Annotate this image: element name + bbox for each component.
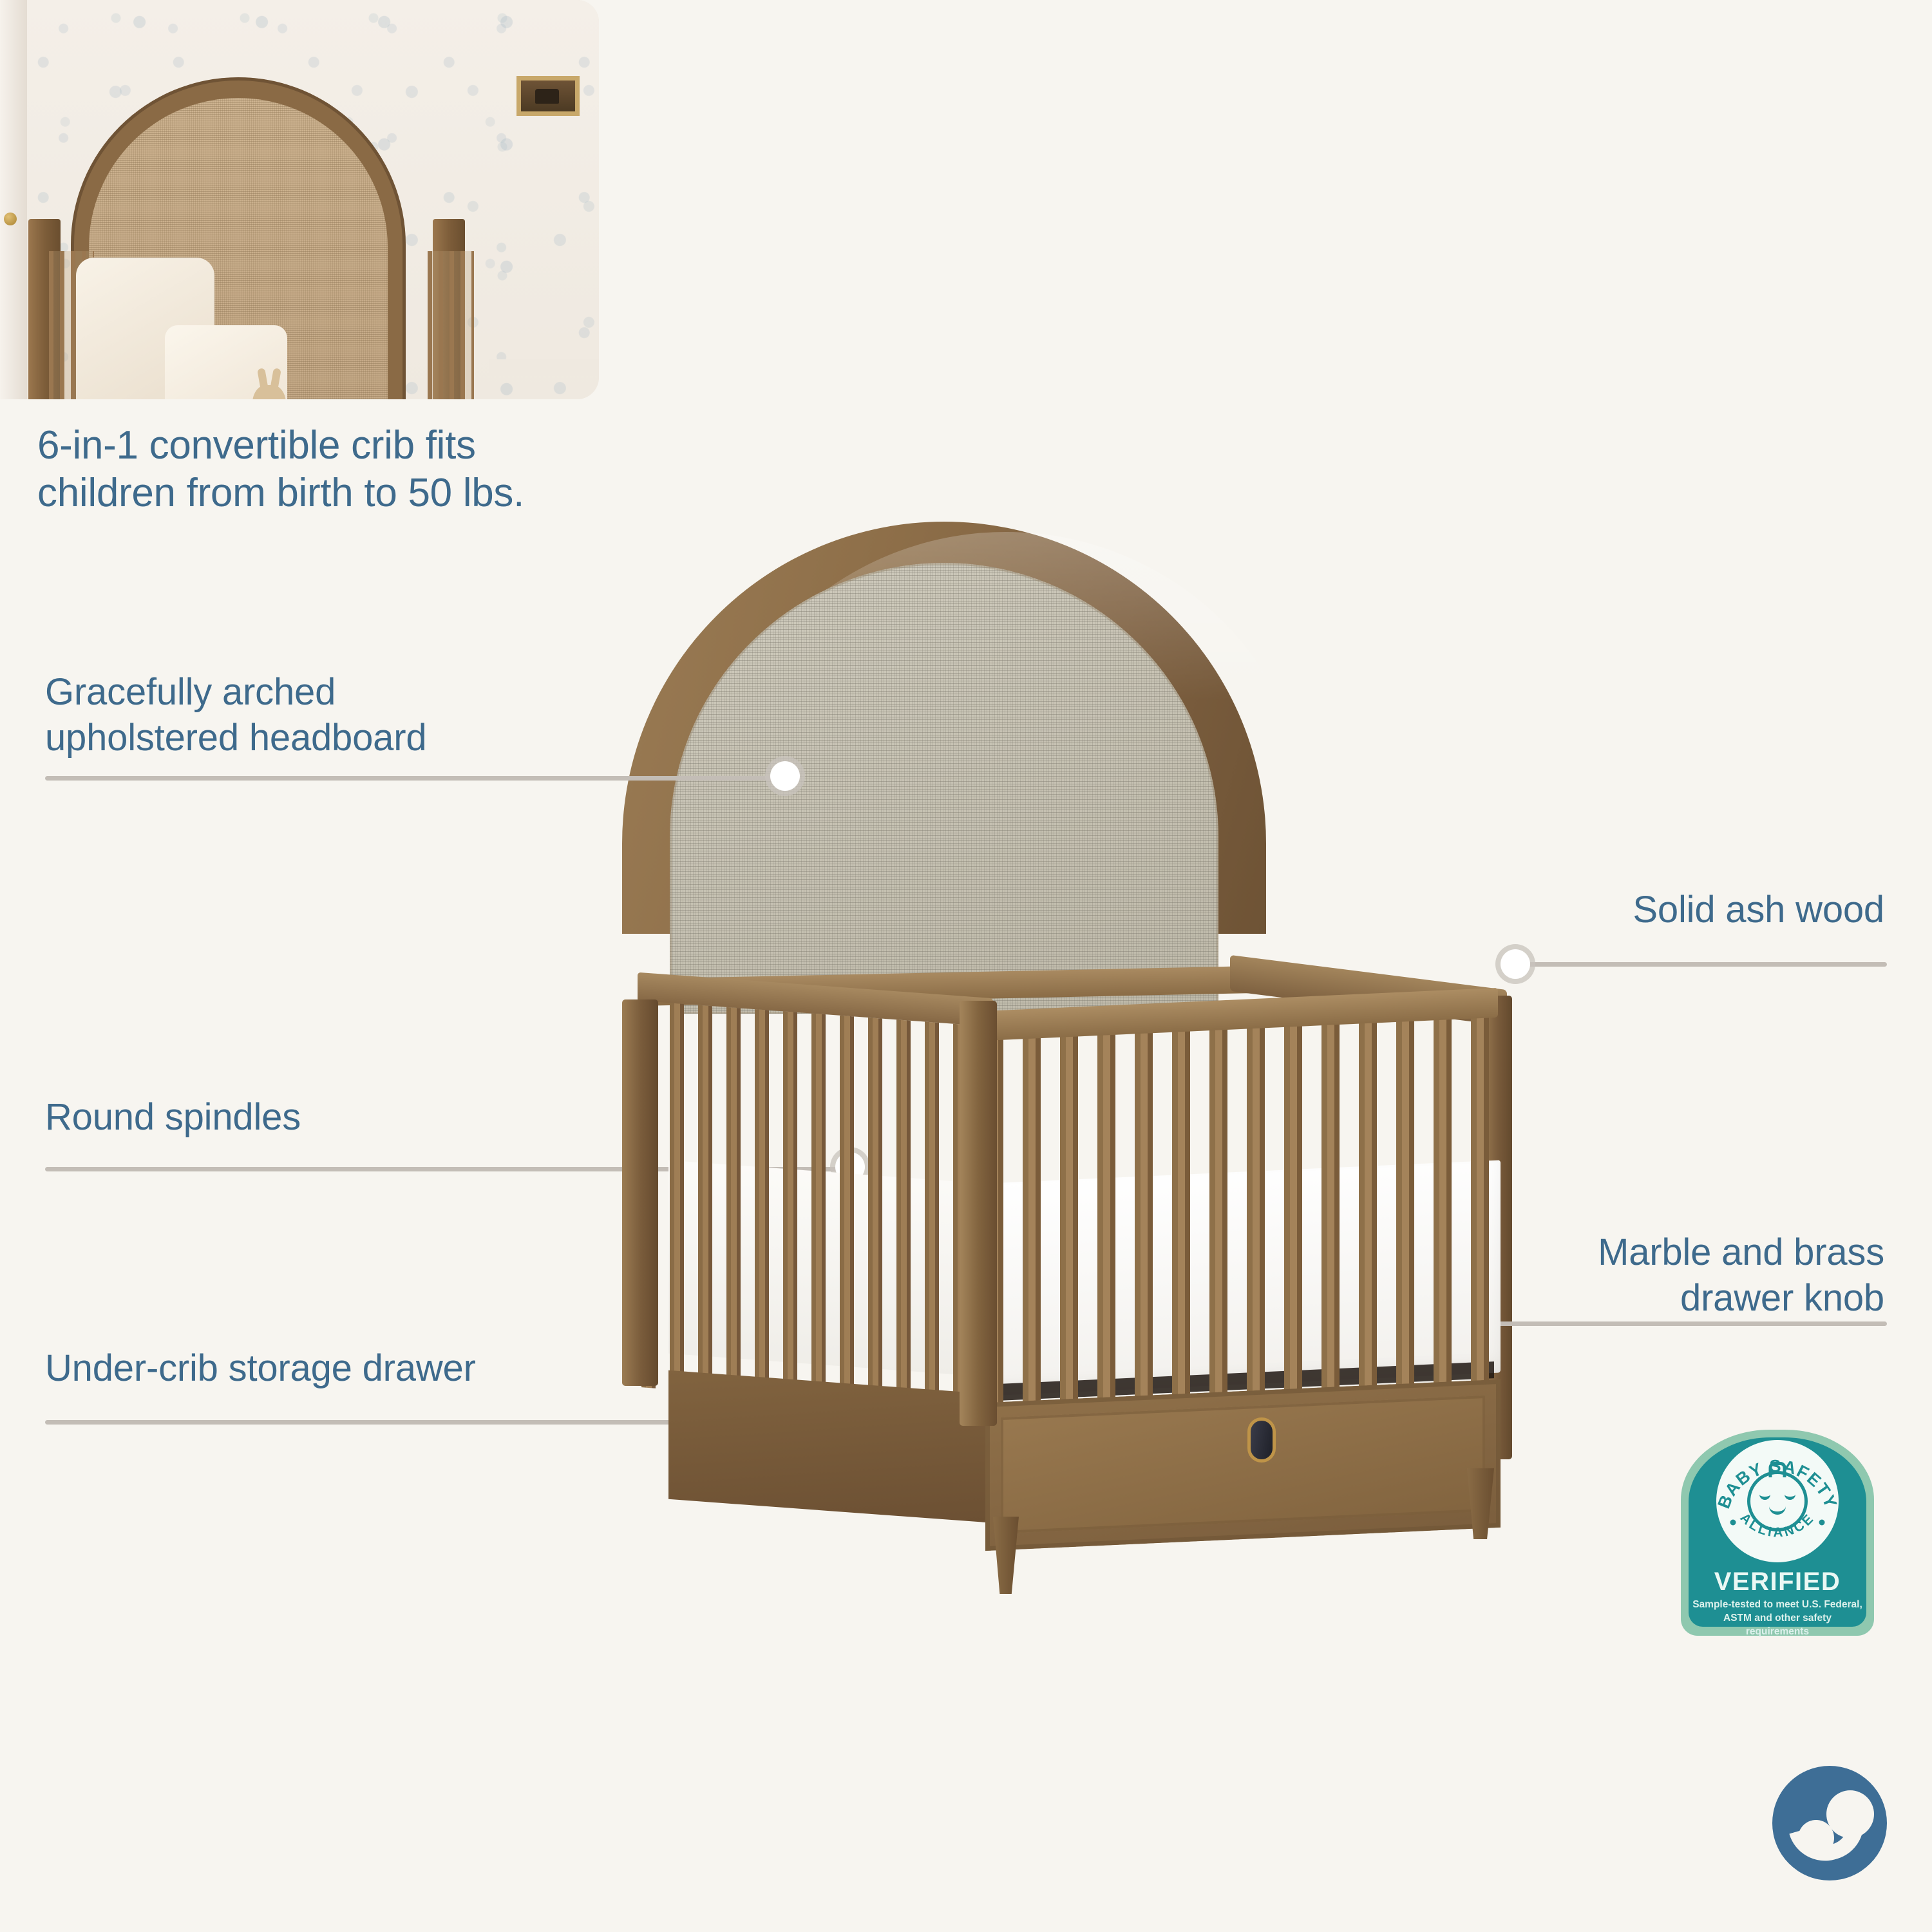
nursery-daybed-thumbnail bbox=[0, 0, 599, 399]
infographic-canvas: 6-in-1 convertible crib fits children fr… bbox=[0, 0, 1932, 1932]
badge-verified-label: VERIFIED bbox=[1681, 1567, 1874, 1596]
floor-baseboard bbox=[489, 359, 599, 376]
callout-label-wood: Solid ash wood bbox=[1176, 887, 1884, 933]
corner-post-back-left bbox=[622, 999, 658, 1386]
framed-picture bbox=[516, 76, 580, 116]
callout-dot-wood[interactable] bbox=[1501, 949, 1530, 979]
door-knob-icon bbox=[4, 213, 17, 225]
storage-drawer-front bbox=[985, 1379, 1501, 1551]
drawer-inset-panel bbox=[1001, 1396, 1485, 1533]
spindles-left-panel bbox=[641, 1001, 989, 1413]
callout-label-headboard: Gracefully arched upholstered headboard bbox=[45, 670, 689, 761]
crib-leg-left bbox=[993, 1517, 1019, 1594]
baby-face-icon bbox=[1747, 1471, 1808, 1531]
leader-line-headboard bbox=[45, 776, 792, 781]
daybed-spindles-right bbox=[428, 251, 474, 399]
badge-subtext: Sample-tested to meet U.S. Federal, ASTM… bbox=[1691, 1598, 1864, 1639]
logo-child-head bbox=[1798, 1820, 1834, 1856]
mother-and-child-logo-icon bbox=[1772, 1766, 1887, 1880]
marble-brass-knob bbox=[1251, 1421, 1273, 1459]
baby-eye-left-icon bbox=[1759, 1491, 1770, 1500]
callout-dot-headboard[interactable] bbox=[770, 761, 800, 791]
headline-text: 6-in-1 convertible crib fits children fr… bbox=[37, 422, 617, 518]
leader-line-wood bbox=[1526, 962, 1887, 967]
door-frame bbox=[0, 0, 27, 399]
baby-eye-right-icon bbox=[1785, 1491, 1795, 1500]
crib-product-illustration bbox=[560, 522, 1591, 1520]
corner-post-front-left bbox=[960, 1001, 997, 1426]
baby-safety-alliance-badge: BABY SAFETY ALLIANCE VERIFIED Sample-tes… bbox=[1681, 1430, 1874, 1636]
baby-smile-icon bbox=[1769, 1502, 1786, 1515]
callout-label-spindles: Round spindles bbox=[45, 1095, 625, 1141]
drawer-side-face bbox=[668, 1370, 988, 1522]
badge-round-seal: BABY SAFETY ALLIANCE bbox=[1716, 1440, 1839, 1562]
logo-parent-head bbox=[1826, 1790, 1874, 1838]
callout-label-drawer: Under-crib storage drawer bbox=[45, 1346, 689, 1392]
